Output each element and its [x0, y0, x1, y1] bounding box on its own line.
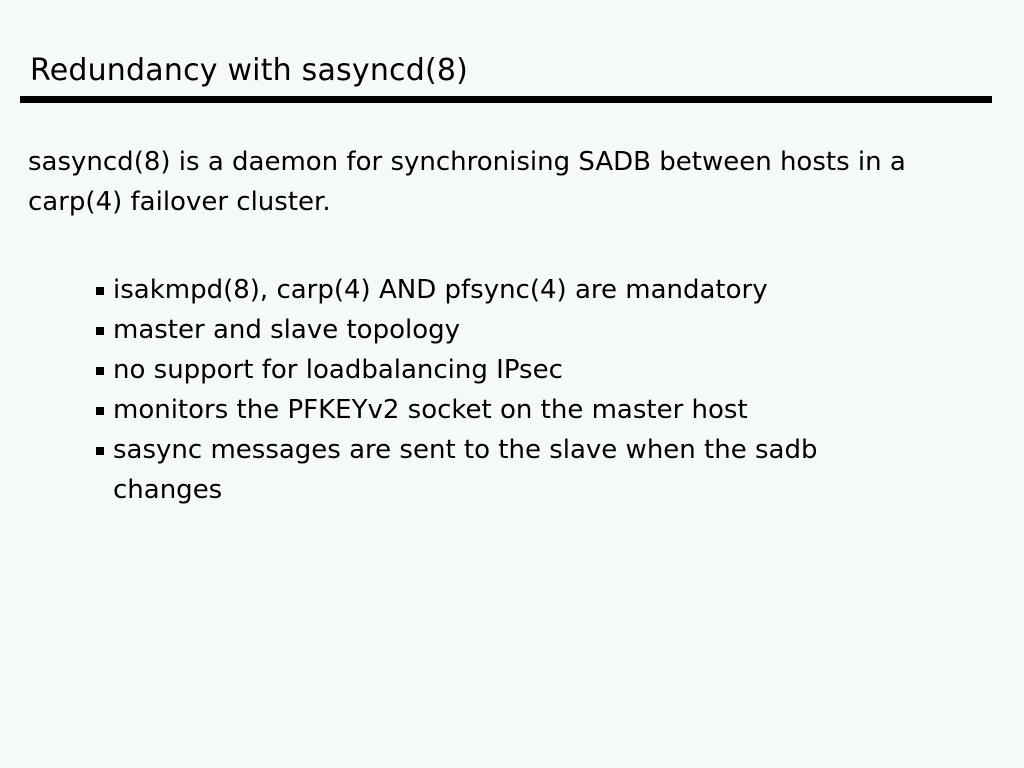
list-item-label: monitors the PFKEYv2 socket on the maste…: [113, 390, 903, 430]
intro-paragraph: sasyncd(8) is a daemon for synchronising…: [28, 142, 963, 222]
list-item: master and slave topology: [68, 310, 968, 350]
square-bullet-icon: [96, 287, 104, 295]
list-item: no support for loadbalancing IPsec: [68, 350, 968, 390]
list-item: isakmpd(8), carp(4) AND pfsync(4) are ma…: [68, 270, 968, 310]
square-bullet-icon: [96, 447, 104, 455]
title-divider: [20, 96, 992, 103]
list-item-label: no support for loadbalancing IPsec: [113, 350, 903, 390]
list-item: monitors the PFKEYv2 socket on the maste…: [68, 390, 968, 430]
list-item-label: isakmpd(8), carp(4) AND pfsync(4) are ma…: [113, 270, 903, 310]
square-bullet-icon: [96, 407, 104, 415]
list-item-label: sasync messages are sent to the slave wh…: [113, 430, 903, 510]
list-item: sasync messages are sent to the slave wh…: [68, 430, 968, 510]
list-item-label: master and slave topology: [113, 310, 903, 350]
square-bullet-icon: [96, 327, 104, 335]
slide-content: sasyncd(8) is a daemon for synchronising…: [28, 142, 988, 222]
bullet-list: isakmpd(8), carp(4) AND pfsync(4) are ma…: [68, 270, 968, 510]
presentation-slide: Redundancy with sasyncd(8) sasyncd(8) is…: [0, 0, 1024, 768]
square-bullet-icon: [96, 367, 104, 375]
page-title: Redundancy with sasyncd(8): [30, 52, 468, 90]
